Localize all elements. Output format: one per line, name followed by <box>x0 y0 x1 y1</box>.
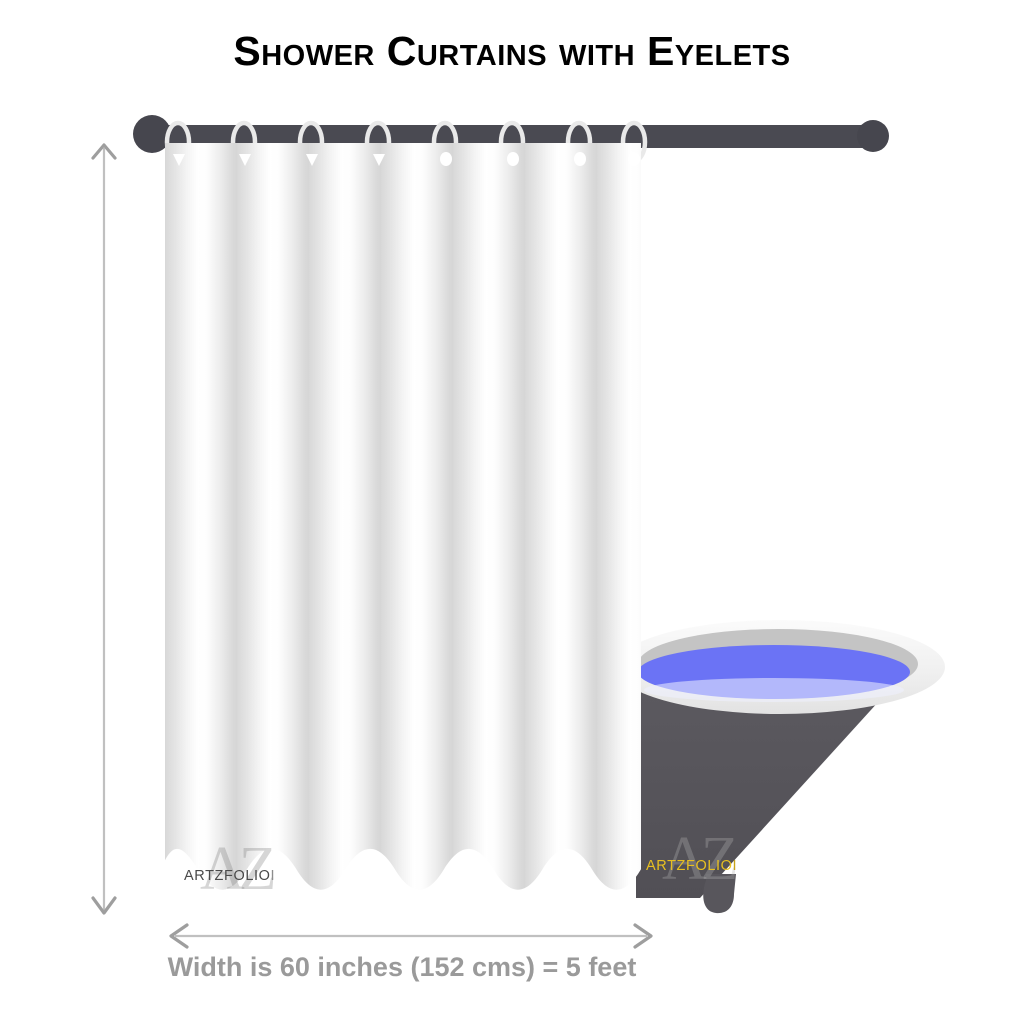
eyelet-icon <box>173 154 185 166</box>
eyelet-icon <box>574 152 586 166</box>
eyelet-icon <box>373 154 385 166</box>
height-dimension-arrow <box>80 140 130 920</box>
shower-curtain-panel <box>165 143 641 898</box>
eyelet-icon <box>628 152 640 166</box>
eyelet-icon <box>239 154 251 166</box>
bathtub <box>615 620 945 913</box>
eyelet-icon <box>440 152 452 166</box>
rod-finial-right <box>857 120 889 152</box>
width-dimension-arrow <box>165 918 657 954</box>
product-dimension-diagram: Shower Curtains with Eyelets <box>0 0 1024 1024</box>
eyelet-icon <box>306 154 318 166</box>
bathtub-foot <box>703 874 736 913</box>
width-dimension-label: Width is 60 inches (152 cms) = 5 feet <box>0 952 1024 983</box>
eyelet-icon <box>507 152 519 166</box>
water-highlight-icon <box>644 678 904 702</box>
